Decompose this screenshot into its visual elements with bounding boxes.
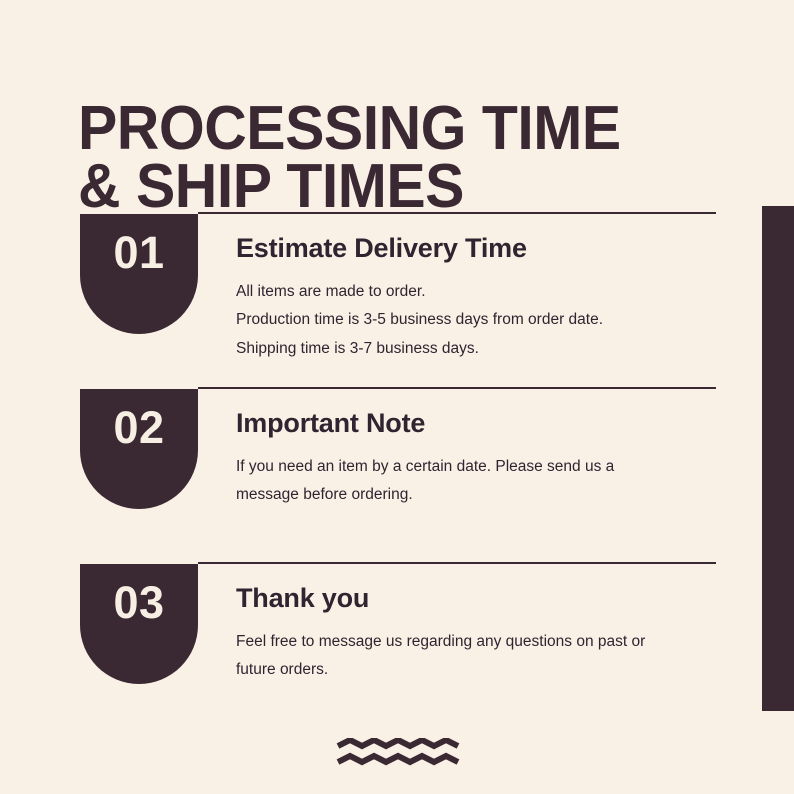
section-content: Estimate Delivery Time All items are mad…: [236, 234, 736, 364]
section-heading: Thank you: [236, 584, 736, 614]
section-body-line: Shipping time is 3-7 business days.: [236, 335, 736, 364]
page-title-line-2: & SHIP TIMES: [78, 158, 705, 217]
section-content: Thank you Feel free to message us regard…: [236, 584, 736, 685]
section-heading: Important Note: [236, 409, 736, 439]
section-body: All items are made to order. Production …: [236, 278, 736, 364]
page-title: PROCESSING TIME & SHIP TIMES: [78, 100, 705, 218]
section-body-line: All items are made to order.: [236, 278, 736, 307]
section-number-label: 01: [113, 230, 164, 275]
section-body-line: Production time is 3-5 business days fro…: [236, 306, 736, 335]
section-number-label: 02: [113, 405, 164, 450]
section-body-line: message before ordering.: [236, 481, 736, 510]
section-divider: [198, 387, 716, 389]
section-number-label: 03: [113, 580, 164, 625]
section-number-badge: 02: [80, 389, 198, 509]
section-body-line: Feel free to message us regarding any qu…: [236, 628, 736, 657]
double-wavy-line-icon: [336, 738, 460, 770]
page-title-line-1: PROCESSING TIME: [78, 100, 705, 159]
section-body: Feel free to message us regarding any qu…: [236, 628, 736, 685]
section-body-line: If you need an item by a certain date. P…: [236, 453, 736, 482]
section-divider: [198, 212, 716, 214]
section-divider: [198, 562, 716, 564]
section-heading: Estimate Delivery Time: [236, 234, 736, 264]
section-body-line: future orders.: [236, 656, 736, 685]
section-content: Important Note If you need an item by a …: [236, 409, 736, 510]
right-edge-bar: [762, 206, 794, 711]
section-number-badge: 01: [80, 214, 198, 334]
section-body: If you need an item by a certain date. P…: [236, 453, 736, 510]
poster-canvas: PROCESSING TIME & SHIP TIMES 01 Estimate…: [0, 0, 794, 794]
section-number-badge: 03: [80, 564, 198, 684]
